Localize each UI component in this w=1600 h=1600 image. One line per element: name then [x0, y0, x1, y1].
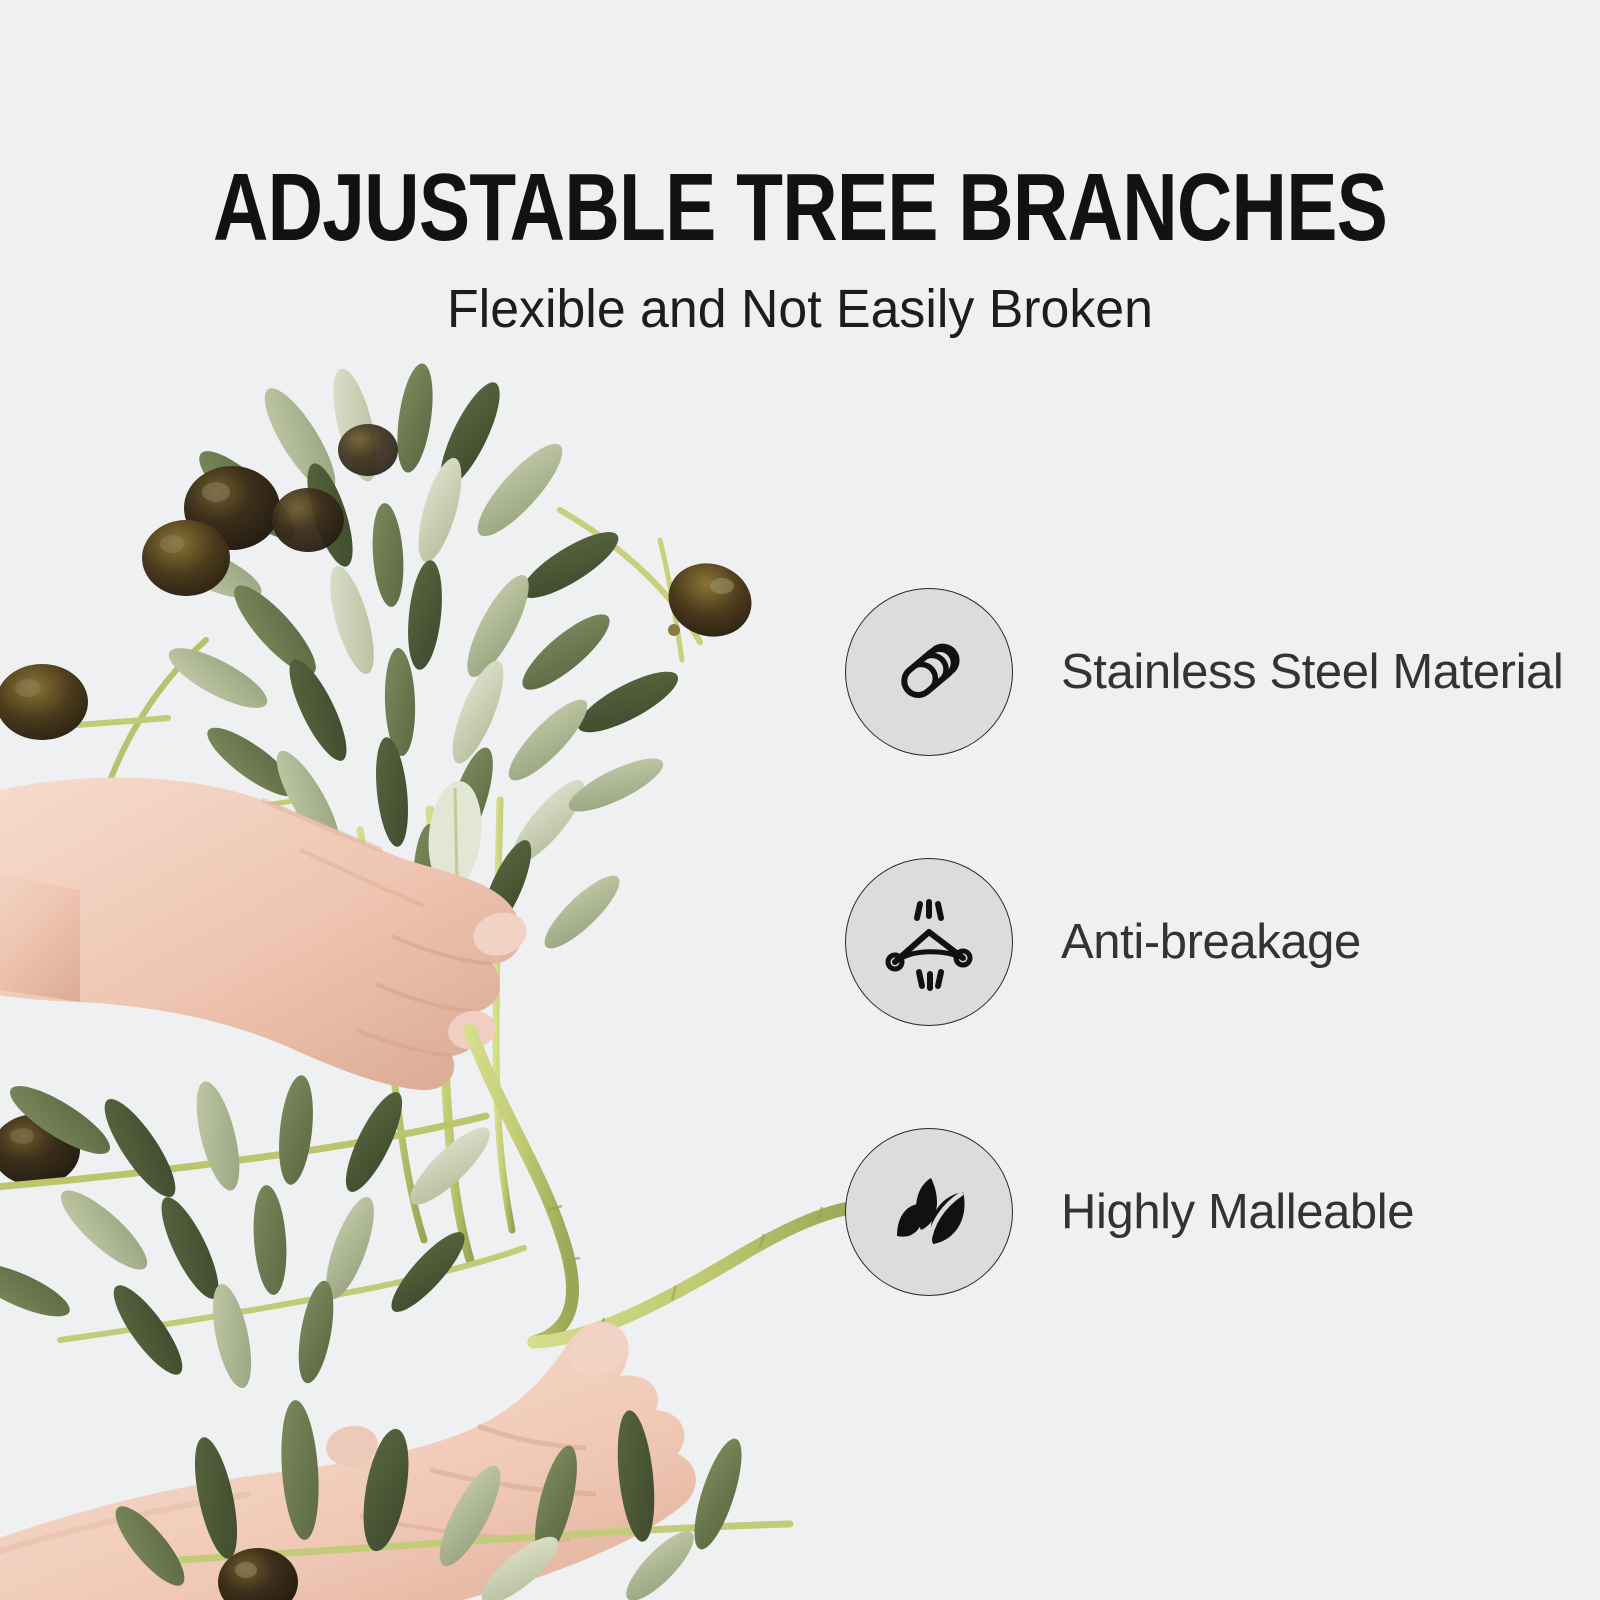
bent-stem: [470, 1030, 862, 1342]
lower-hand: [0, 1318, 696, 1600]
feature-label: Highly Malleable: [1061, 1184, 1414, 1240]
page-title: ADJUSTABLE TREE BRANCHES: [160, 160, 1440, 256]
feature-item-highly-malleable: Highly Malleable: [845, 1128, 1565, 1296]
product-photo: [0, 330, 900, 1600]
product-infographic: ADJUSTABLE TREE BRANCHES Flexible and No…: [0, 0, 1600, 1600]
feature-label: Stainless Steel Material: [1061, 644, 1563, 700]
steel-rod-icon: [845, 588, 1013, 756]
feature-item-stainless-steel: Stainless Steel Material: [845, 588, 1565, 756]
header: ADJUSTABLE TREE BRANCHES Flexible and No…: [0, 160, 1600, 340]
feature-label: Anti-breakage: [1061, 914, 1361, 970]
bending-rod-icon: [845, 858, 1013, 1026]
leaves-icon: [845, 1128, 1013, 1296]
feature-item-anti-breakage: Anti-breakage: [845, 858, 1565, 1026]
feature-list: Stainless Steel Material: [845, 588, 1565, 1296]
